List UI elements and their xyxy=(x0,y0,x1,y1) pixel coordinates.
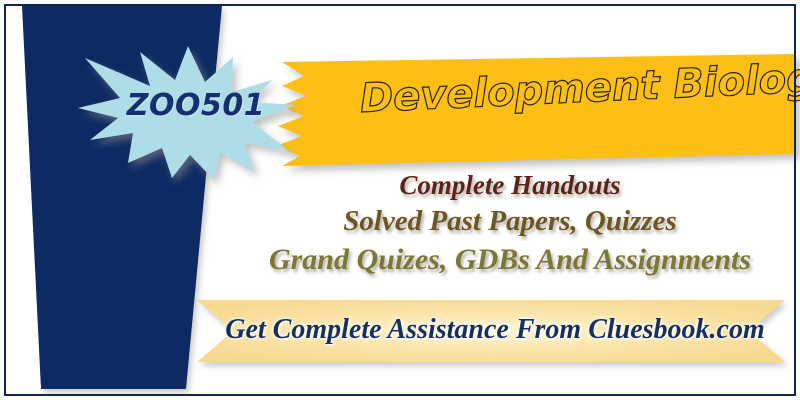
promo-banner: ZOO501 Development Biology Complete Hand… xyxy=(0,0,800,400)
banner-artwork xyxy=(0,0,800,400)
assistance-ribbon-shape xyxy=(197,300,785,362)
title-banner-shape xyxy=(276,54,796,166)
